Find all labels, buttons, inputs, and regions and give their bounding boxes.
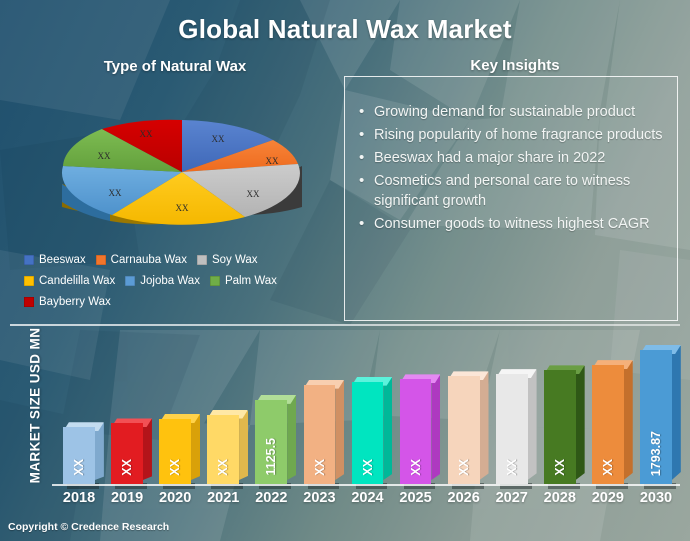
list-item: Rising popularity of home fragrance prod… <box>359 126 669 145</box>
bar-2018[interactable]: XX <box>63 427 95 484</box>
x-tick-2026: 2026 <box>440 490 488 506</box>
bar-value-label: XX <box>448 459 480 476</box>
pie-chart-title: Type of Natural Wax <box>10 58 340 75</box>
x-tick-2024: 2024 <box>343 490 391 506</box>
bar-value-label: 1793.87 <box>640 431 672 476</box>
bar-2020[interactable]: XX <box>159 419 191 484</box>
x-tick-2027: 2027 <box>488 490 536 506</box>
bar-value-label: XX <box>592 459 624 476</box>
bar-side <box>287 396 296 480</box>
pie-chart: XX XX XX XX XX XX XX <box>32 96 332 244</box>
svg-text:XX: XX <box>247 189 260 199</box>
legend-item-jojoba-wax[interactable]: Jojoba Wax <box>125 273 200 289</box>
legend-label: Carnauba Wax <box>111 254 187 266</box>
bar-2030[interactable]: 1793.87 <box>640 350 672 484</box>
x-tick-2019: 2019 <box>103 490 151 506</box>
copyright-text: Copyright © Credence Research <box>8 521 169 533</box>
bar-side <box>672 346 681 480</box>
bar-side <box>528 370 537 480</box>
legend-swatch-icon <box>24 276 34 286</box>
svg-text:XX: XX <box>140 129 153 139</box>
bar-side <box>191 415 200 480</box>
x-tick-2020: 2020 <box>151 490 199 506</box>
legend-item-soy-wax[interactable]: Soy Wax <box>197 252 258 268</box>
key-insights-title: Key Insights <box>345 57 685 74</box>
bar-2028[interactable]: XX <box>544 370 576 484</box>
bar-2019[interactable]: XX <box>111 423 143 484</box>
legend-swatch-icon <box>125 276 135 286</box>
infographic-root: Global Natural Wax Market Type of Natura… <box>0 0 690 541</box>
bar-side <box>239 411 248 481</box>
x-tick-2023: 2023 <box>295 490 343 506</box>
legend-label: Jojoba Wax <box>140 275 200 287</box>
x-axis-line <box>52 484 680 486</box>
x-tick-2025: 2025 <box>392 490 440 506</box>
list-item: Cosmetics and personal care to witness s… <box>359 172 669 210</box>
x-tick-2021: 2021 <box>199 490 247 506</box>
bar-2027[interactable]: XX <box>496 374 528 484</box>
legend-item-carnauba-wax[interactable]: Carnauba Wax <box>96 252 187 268</box>
key-insights-list: Growing demand for sustainable product R… <box>345 77 677 234</box>
list-item: Beeswax had a major share in 2022 <box>359 149 669 168</box>
x-tick-2028: 2028 <box>536 490 584 506</box>
legend-item-candelilla-wax[interactable]: Candelilla Wax <box>24 273 115 289</box>
bar-value-label: XX <box>496 459 528 476</box>
x-tick-2018: 2018 <box>55 490 103 506</box>
legend-swatch-icon <box>24 297 34 307</box>
svg-text:XX: XX <box>212 134 225 144</box>
bar-side <box>480 372 489 480</box>
legend-swatch-icon <box>96 255 106 265</box>
key-insights-panel: Growing demand for sustainable product R… <box>344 76 678 321</box>
bar-side <box>143 419 152 480</box>
bar-value-label: XX <box>159 459 191 476</box>
svg-text:XX: XX <box>266 156 279 166</box>
bar-side <box>431 375 440 480</box>
bar-value-label: XX <box>207 459 239 476</box>
bar-side <box>576 366 585 480</box>
legend-item-beeswax[interactable]: Beeswax <box>24 252 86 268</box>
legend-label: Candelilla Wax <box>39 275 115 287</box>
page-title: Global Natural Wax Market <box>0 14 690 45</box>
bar-2024[interactable]: XX <box>352 382 384 484</box>
legend-label: Bayberry Wax <box>39 296 111 308</box>
list-item: Growing demand for sustainable product <box>359 103 669 122</box>
bar-2029[interactable]: XX <box>592 365 624 484</box>
top-section: Global Natural Wax Market Type of Natura… <box>0 0 690 325</box>
svg-text:XX: XX <box>98 151 111 161</box>
x-tick-2029: 2029 <box>584 490 632 506</box>
bar-2021[interactable]: XX <box>207 415 239 485</box>
legend-swatch-icon <box>197 255 207 265</box>
bar-2026[interactable]: XX <box>448 376 480 484</box>
bar-side <box>383 378 392 480</box>
svg-text:XX: XX <box>109 188 122 198</box>
bar-value-label: 1125.5 <box>255 438 287 476</box>
x-axis-labels: 2018201920202021202220232024202520262027… <box>55 490 680 514</box>
bar-side <box>95 423 104 480</box>
legend-swatch-icon <box>210 276 220 286</box>
legend-label: Soy Wax <box>212 254 258 266</box>
legend-item-bayberry-wax[interactable]: Bayberry Wax <box>24 294 111 310</box>
bar-value-label: XX <box>304 459 336 476</box>
legend-label: Palm Wax <box>225 275 277 287</box>
bar-value-label: XX <box>111 459 143 476</box>
bar-chart-section: MARKET SIZE USD MN XXXXXXXX1125.5XXXXXXX… <box>0 326 690 541</box>
bar-value-label: XX <box>352 459 384 476</box>
list-item: Consumer goods to witness highest CAGR <box>359 215 669 234</box>
legend-item-palm-wax[interactable]: Palm Wax <box>210 273 277 289</box>
y-axis-label: MARKET SIZE USD MN <box>28 326 43 486</box>
bar-2025[interactable]: XX <box>400 379 432 484</box>
bar-2023[interactable]: XX <box>304 385 336 484</box>
pie-legend: Beeswax Carnauba Wax Soy Wax Candelilla … <box>24 252 344 315</box>
bar-side <box>335 381 344 480</box>
bar-value-label: XX <box>63 459 95 476</box>
bar-2022[interactable]: 1125.5 <box>255 400 287 484</box>
bar-value-label: XX <box>400 459 432 476</box>
bar-chart-bars: XXXXXXXX1125.5XXXXXXXXXXXXXX1793.87 <box>55 334 680 484</box>
bar-side <box>624 361 633 480</box>
legend-label: Beeswax <box>39 254 86 266</box>
x-tick-2030: 2030 <box>632 490 680 506</box>
legend-swatch-icon <box>24 255 34 265</box>
bar-value-label: XX <box>544 459 576 476</box>
x-tick-2022: 2022 <box>247 490 295 506</box>
svg-text:XX: XX <box>176 203 189 213</box>
